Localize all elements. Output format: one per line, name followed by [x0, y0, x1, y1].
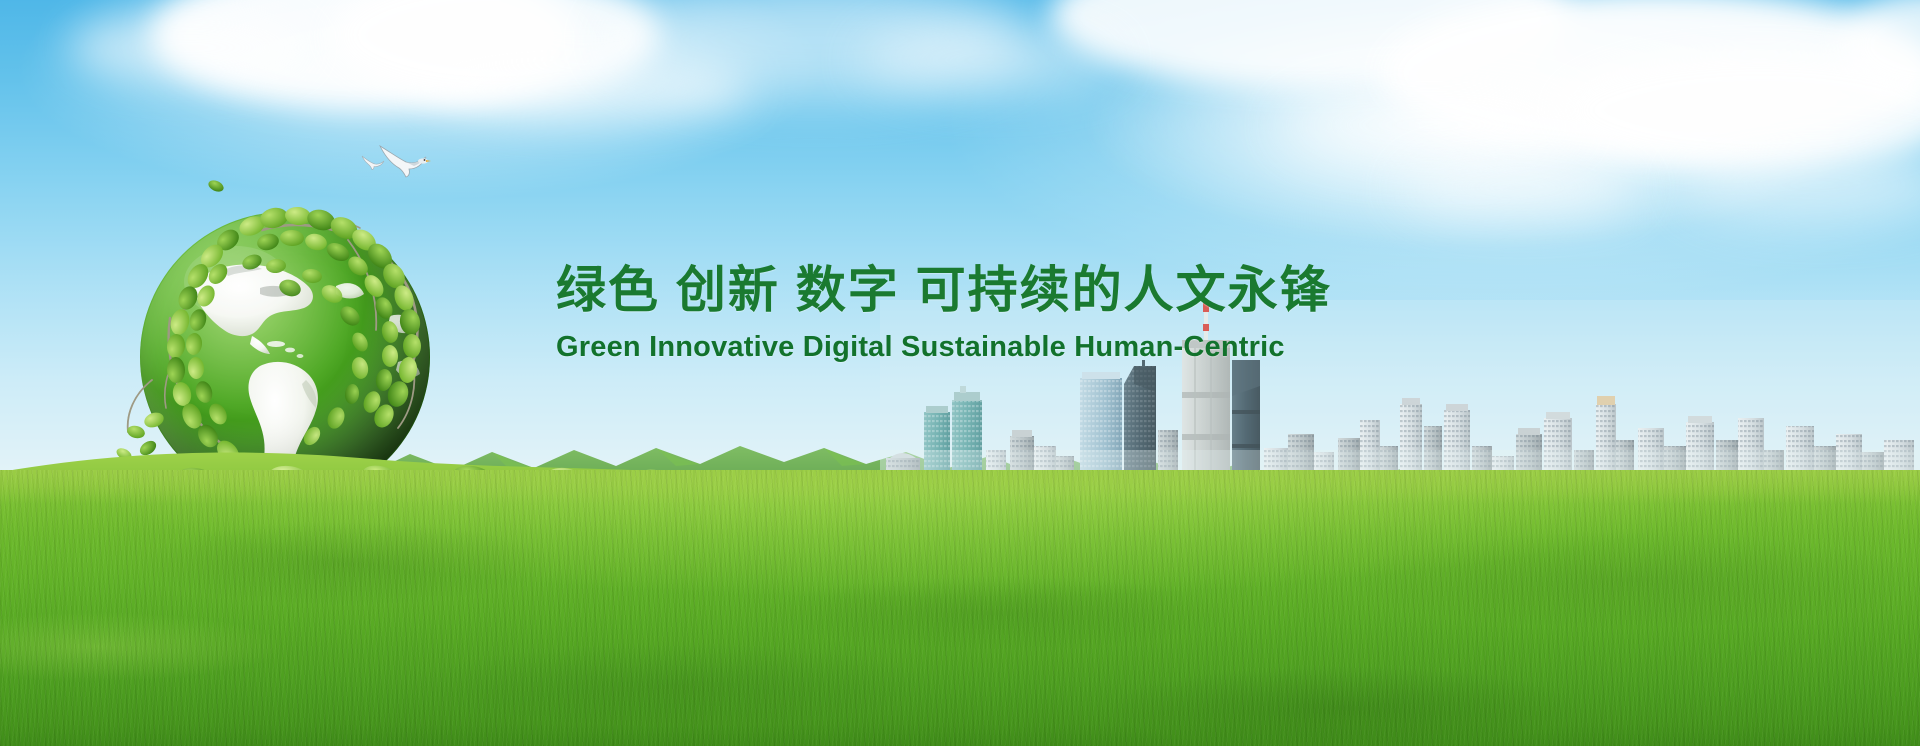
hero-banner: 绿色 创新 数字 可持续的人文永锋 Green Innovative Digit…: [0, 0, 1920, 746]
grass-texture: [0, 470, 1920, 746]
grass-field: [0, 470, 1920, 746]
cloud-icon: [860, 30, 1120, 90]
cloud-icon: [1280, 90, 1580, 160]
city-skyline: [880, 300, 1920, 490]
seagull-icon: [360, 154, 386, 170]
page-subtitle: Green Innovative Digital Sustainable Hum…: [556, 330, 1616, 365]
cloud-icon: [1400, 160, 1640, 215]
page-title: 绿色 创新 数字 可持续的人文永锋: [556, 262, 1616, 318]
cloud-icon: [70, 10, 310, 85]
